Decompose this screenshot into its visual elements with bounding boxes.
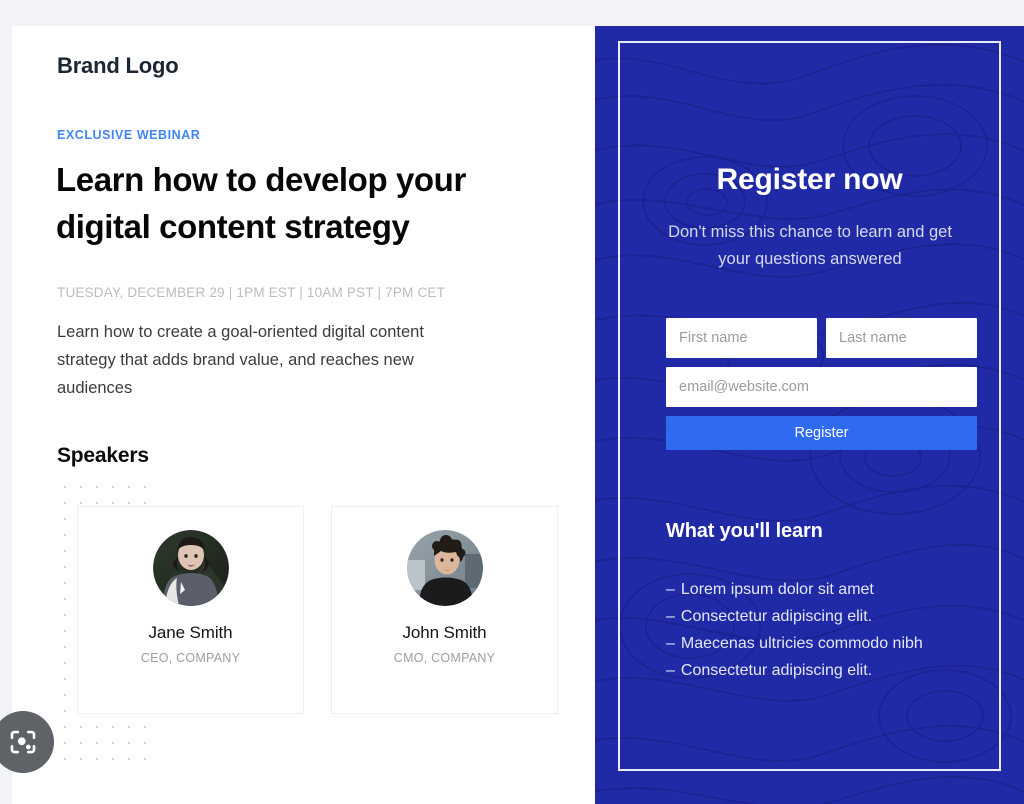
webinar-datetime: TUESDAY, DECEMBER 29 | 1PM EST | 10AM PS…	[57, 285, 445, 300]
name-row	[666, 318, 978, 358]
list-item: –Lorem ipsum dolor sit amet	[666, 576, 986, 603]
avatar	[153, 530, 229, 606]
dash-bullet: –	[666, 608, 675, 625]
lens-search-icon	[8, 727, 38, 757]
speaker-photo-john	[407, 530, 483, 606]
speakers-list: Jane Smith CEO, COMPANY	[77, 506, 577, 714]
speaker-name: John Smith	[402, 623, 486, 643]
speaker-name: Jane Smith	[148, 623, 232, 643]
speaker-photo-jane	[153, 530, 229, 606]
list-item: –Consectetur adipiscing elit.	[666, 657, 986, 684]
landing-page-card: Brand Logo EXCLUSIVE WEBINAR Learn how t…	[12, 26, 1024, 804]
what-you-will-learn-heading: What you'll learn	[666, 520, 823, 543]
speaker-role: CEO, COMPANY	[141, 651, 240, 665]
registration-form: Register	[666, 318, 978, 450]
webinar-description: Learn how to create a goal-oriented digi…	[57, 318, 457, 402]
speaker-card: John Smith CMO, COMPANY	[331, 506, 558, 714]
register-heading: Register now	[595, 163, 1024, 197]
list-item: –Maecenas ultricies commodo nibh	[666, 630, 986, 657]
dash-bullet: –	[666, 581, 675, 598]
list-item-label: Maecenas ultricies commodo nibh	[681, 635, 923, 652]
register-button[interactable]: Register	[666, 416, 977, 450]
speaker-role: CMO, COMPANY	[394, 651, 495, 665]
dash-bullet: –	[666, 662, 675, 679]
what-you-will-learn-list: –Lorem ipsum dolor sit amet –Consectetur…	[666, 576, 986, 684]
list-item-label: Consectetur adipiscing elit.	[681, 608, 872, 625]
registration-panel: Register now Don't miss this chance to l…	[595, 26, 1024, 804]
list-item: –Consectetur adipiscing elit.	[666, 603, 986, 630]
page-root: Brand Logo EXCLUSIVE WEBINAR Learn how t…	[0, 0, 1024, 804]
speaker-card: Jane Smith CEO, COMPANY	[77, 506, 304, 714]
email-input[interactable]	[666, 367, 977, 407]
eyebrow-label: EXCLUSIVE WEBINAR	[57, 128, 200, 142]
speakers-heading: Speakers	[57, 444, 149, 468]
register-subtitle: Don't miss this chance to learn and get …	[660, 219, 960, 273]
list-item-label: Lorem ipsum dolor sit amet	[681, 581, 874, 598]
dash-bullet: –	[666, 635, 675, 652]
first-name-input[interactable]	[666, 318, 817, 358]
last-name-input[interactable]	[826, 318, 977, 358]
brand-logo[interactable]: Brand Logo	[57, 53, 178, 79]
list-item-label: Consectetur adipiscing elit.	[681, 662, 872, 679]
page-title: Learn how to develop your digital conten…	[56, 156, 526, 250]
left-content-column: Brand Logo EXCLUSIVE WEBINAR Learn how t…	[12, 26, 595, 804]
avatar	[407, 530, 483, 606]
